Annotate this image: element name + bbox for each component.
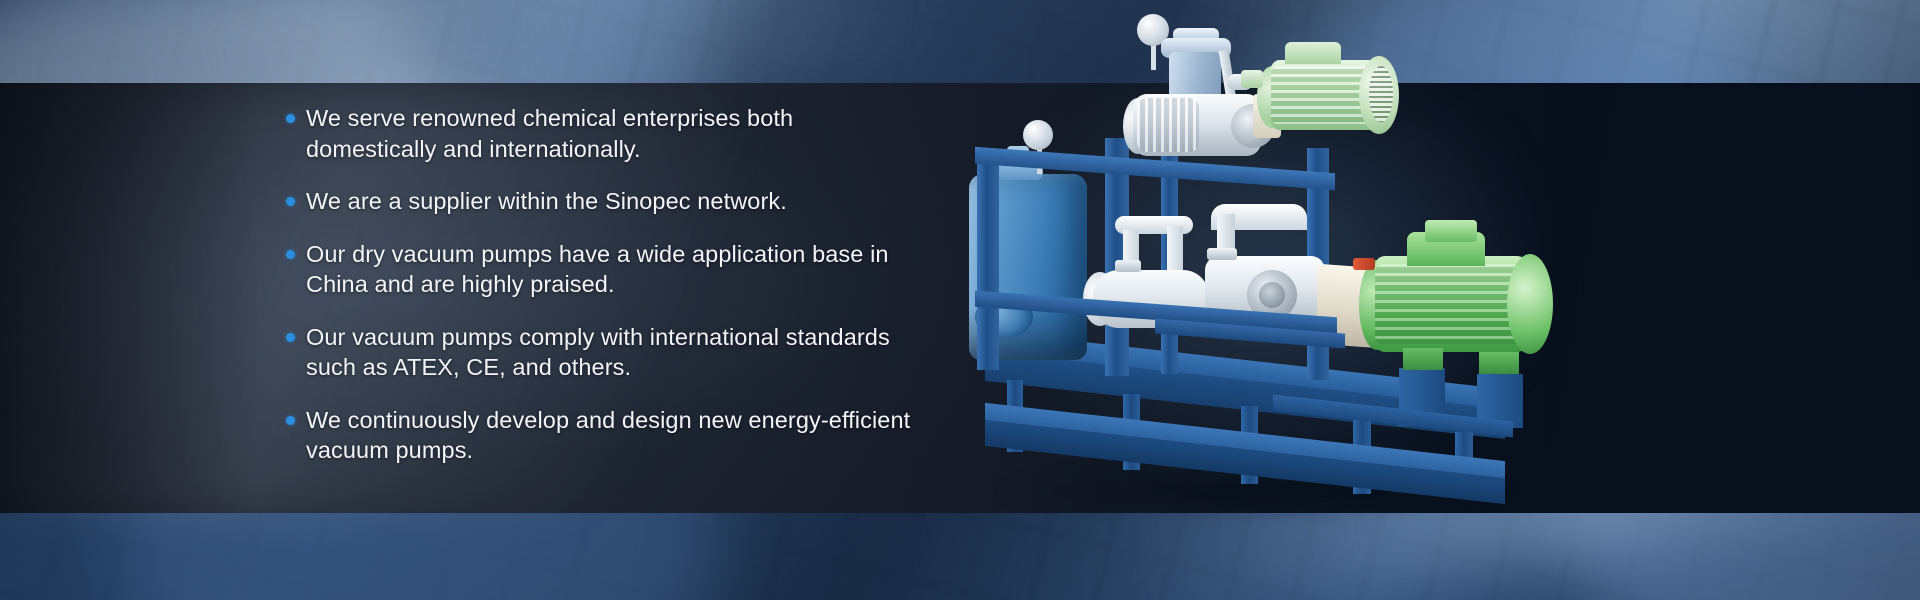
bullet-text: Our vacuum pumps comply with internation…	[306, 322, 916, 383]
list-item: Our vacuum pumps comply with internation…	[286, 322, 936, 383]
bullet-dot-icon	[286, 250, 295, 259]
upper-motor-terminal	[1241, 70, 1263, 88]
list-item: We are a supplier within the Sinopec net…	[286, 186, 936, 217]
upper-motor-terminal-hood	[1285, 42, 1341, 64]
bullet-list: We serve renowned chemical enterprises b…	[286, 103, 936, 466]
band-left-vignette	[0, 83, 260, 513]
motor-foot	[1479, 352, 1519, 374]
motor-foot	[1403, 348, 1443, 370]
bullet-text: We continuously develop and design new e…	[306, 405, 916, 466]
band-right-vignette	[1620, 83, 1920, 513]
bullet-dot-icon	[286, 114, 295, 123]
motor-terminal-box	[1425, 220, 1477, 242]
bullet-dot-icon	[286, 197, 295, 206]
mid-pump-flange	[1207, 248, 1237, 260]
upper-motor-fan-grill	[1369, 66, 1393, 122]
mid-pump-shaft	[1259, 282, 1285, 308]
list-item: We continuously develop and design new e…	[286, 405, 936, 466]
list-item: Our dry vacuum pumps have a wide applica…	[286, 239, 936, 300]
lower-pump-flange	[1115, 260, 1141, 272]
pressure-gauge-icon	[1023, 120, 1053, 150]
motor-front-cap	[1507, 254, 1553, 354]
motor-cable-gland	[1353, 258, 1375, 270]
bullet-text: Our dry vacuum pumps have a wide applica…	[306, 239, 916, 300]
vacuum-pump-product-image	[955, 8, 1615, 518]
booster-cooling-fins	[1137, 98, 1199, 152]
bullet-text: We serve renowned chemical enterprises b…	[306, 103, 916, 164]
banner-stage: We serve renowned chemical enterprises b…	[0, 0, 1920, 600]
motor-cooling-fins	[1375, 264, 1527, 344]
booster-inlet-neck	[1169, 52, 1221, 100]
lower-pump-pipe	[1167, 226, 1183, 276]
frame-post	[977, 158, 999, 370]
bullet-dot-icon	[286, 333, 295, 342]
list-item: We serve renowned chemical enterprises b…	[286, 103, 936, 164]
bullet-dot-icon	[286, 416, 295, 425]
bullet-text: We are a supplier within the Sinopec net…	[306, 186, 787, 217]
